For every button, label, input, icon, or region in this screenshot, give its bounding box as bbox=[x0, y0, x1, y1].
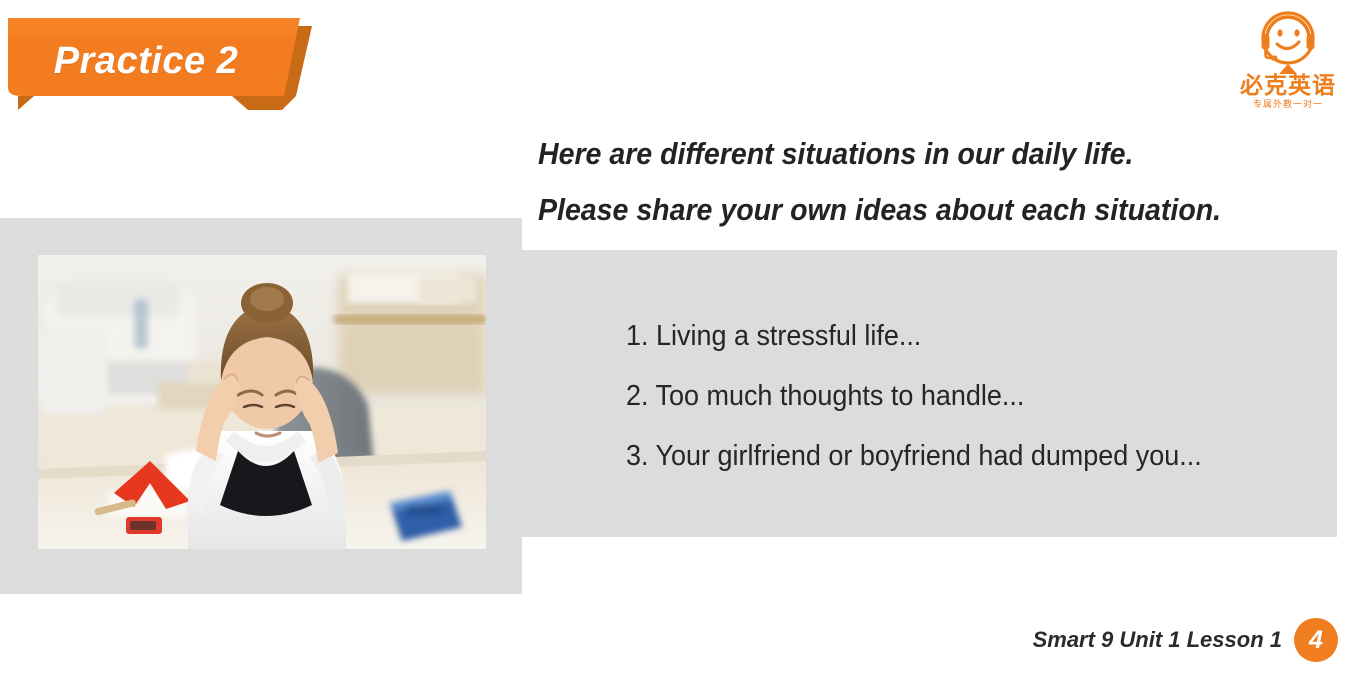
photo-illustration bbox=[38, 255, 486, 549]
list-item: 2. Too much thoughts to handle... bbox=[626, 366, 1286, 426]
banner-ribbon-shape bbox=[0, 18, 330, 110]
slide-heading: Here are different situations in our dai… bbox=[538, 126, 1350, 238]
stressed-woman-photo bbox=[38, 255, 486, 549]
list-item: 3. Your girlfriend or boyfriend had dump… bbox=[626, 426, 1286, 486]
logo-tagline-text: 专属外教一对一 bbox=[1232, 101, 1344, 110]
slide-footer: Smart 9 Unit 1 Lesson 1 4 bbox=[1033, 618, 1338, 662]
heading-line-2: Please share your own ideas about each s… bbox=[538, 182, 1285, 238]
heading-line-1: Here are different situations in our dai… bbox=[538, 126, 1285, 182]
page-number-badge: 4 bbox=[1294, 618, 1338, 662]
list-item: 1. Living a stressful life... bbox=[626, 306, 1286, 366]
slide-canvas: Practice 2 必克英语 专属外教一对一 Here are differe… bbox=[0, 0, 1360, 680]
practice-banner: Practice 2 bbox=[0, 18, 330, 110]
logo-brand-text: 必克英语 bbox=[1232, 75, 1344, 98]
smiling-face-with-headset-icon bbox=[1247, 8, 1329, 74]
brand-logo: 必克英语 专属外教一对一 bbox=[1232, 8, 1344, 120]
course-label: Smart 9 Unit 1 Lesson 1 bbox=[1033, 627, 1282, 653]
situations-list: 1. Living a stressful life... 2. Too muc… bbox=[626, 306, 1336, 486]
